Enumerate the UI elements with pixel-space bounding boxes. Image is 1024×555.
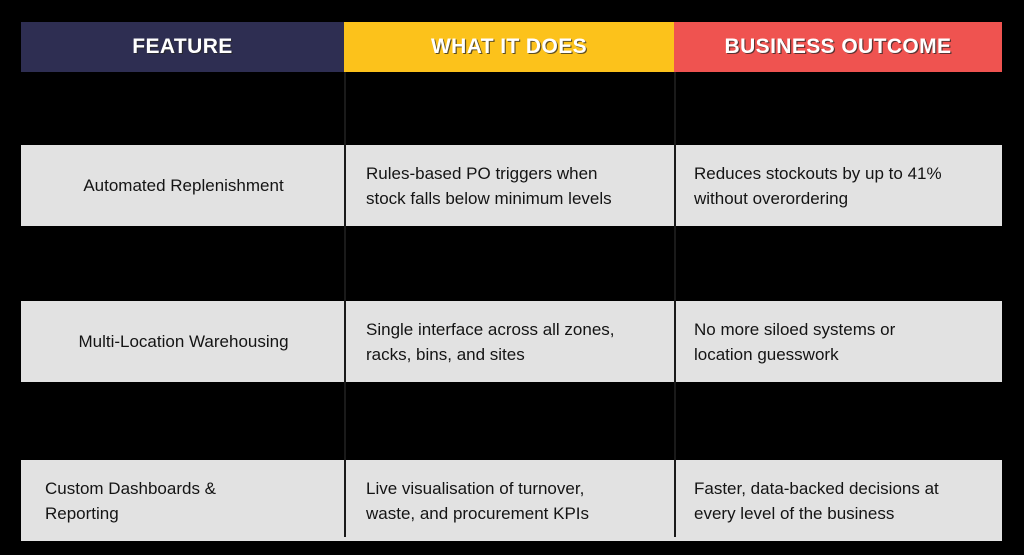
table-row: Multi-Location Warehousing Single interf… [21,301,1002,382]
cell-feature-line1: Custom Dashboards & [45,476,322,501]
column-header-business-outcome-label: BUSINESS OUTCOME [725,35,952,59]
cell-what-it-does-line2: stock falls below minimum levels [366,186,658,211]
cell-feature: Custom Dashboards & Reporting [21,460,344,541]
cell-business-outcome-line1: Faster, data-backed decisions at [694,476,986,501]
cell-what-it-does: Rules-based PO triggers when stock falls… [344,145,674,226]
cell-what-it-does-line1: Single interface across all zones, [366,317,658,342]
column-header-what-it-does: WHAT IT DOES [344,22,674,72]
cell-what-it-does: Live visualisation of turnover, waste, a… [344,460,674,541]
cell-what-it-does-line2: waste, and procurement KPIs [366,501,658,526]
cell-business-outcome: Faster, data-backed decisions at every l… [674,460,1002,541]
column-divider-1 [344,72,346,537]
cell-what-it-does-line1: Rules-based PO triggers when [366,161,658,186]
cell-what-it-does: Single interface across all zones, racks… [344,301,674,382]
column-header-business-outcome: BUSINESS OUTCOME [674,22,1002,72]
cell-feature-text: Automated Replenishment [45,173,322,198]
column-header-feature: FEATURE [21,22,344,72]
cell-business-outcome-line2: location guesswork [694,342,986,367]
cell-business-outcome: Reduces stockouts by up to 41% without o… [674,145,1002,226]
cell-business-outcome-line2: every level of the business [694,501,986,526]
cell-business-outcome-line1: No more siloed systems or [694,317,986,342]
cell-business-outcome-line1: Reduces stockouts by up to 41% [694,161,986,186]
cell-feature-text: Multi-Location Warehousing [45,329,322,354]
column-header-what-it-does-label: WHAT IT DOES [431,35,587,59]
table-row: Automated Replenishment Rules-based PO t… [21,145,1002,226]
cell-what-it-does-line2: racks, bins, and sites [366,342,658,367]
cell-what-it-does-line1: Live visualisation of turnover, [366,476,658,501]
table-body: Automated Replenishment Rules-based PO t… [21,72,1002,537]
table-row: Custom Dashboards & Reporting Live visua… [21,460,1002,541]
feature-comparison-table: FEATURE WHAT IT DOES BUSINESS OUTCOME Au… [21,22,1002,537]
column-divider-2 [674,72,676,537]
table-header-row: FEATURE WHAT IT DOES BUSINESS OUTCOME [21,22,1002,72]
cell-business-outcome-line2: without overordering [694,186,986,211]
cell-feature: Multi-Location Warehousing [21,301,344,382]
cell-feature: Automated Replenishment [21,145,344,226]
cell-feature-line2: Reporting [45,501,322,526]
cell-business-outcome: No more siloed systems or location guess… [674,301,1002,382]
column-header-feature-label: FEATURE [132,35,232,59]
